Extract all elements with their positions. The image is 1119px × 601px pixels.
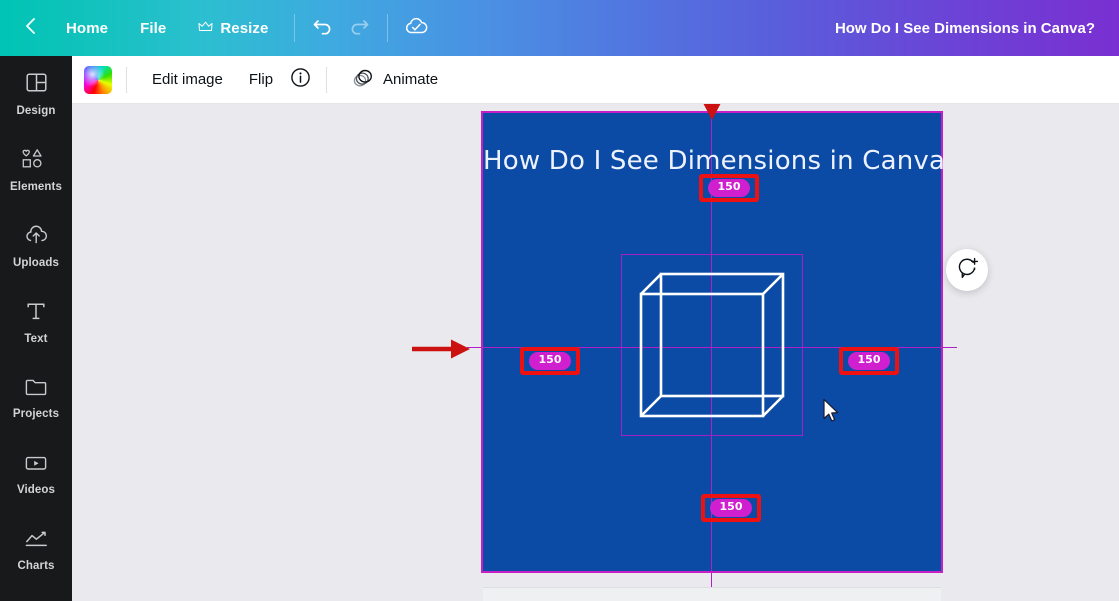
guide-extension-right [941, 347, 957, 348]
add-comment-button[interactable] [946, 249, 988, 291]
sidebar-label-text: Text [24, 333, 47, 345]
edit-image-button[interactable]: Edit image [141, 64, 234, 95]
animate-label: Animate [383, 71, 438, 88]
rainbow-color-swatch[interactable] [84, 66, 112, 94]
video-play-icon [24, 453, 48, 478]
home-label: Home [66, 20, 108, 37]
dimension-value-top: 150 [708, 179, 751, 196]
saved-status-button[interactable] [398, 11, 434, 45]
animate-icon [352, 67, 375, 93]
dimension-value-right: 150 [848, 352, 891, 369]
sidebar-item-text[interactable]: Text [0, 284, 72, 360]
sidebar-label-elements: Elements [10, 181, 62, 193]
back-button[interactable] [16, 14, 44, 42]
dimension-badge-right[interactable]: 150 [839, 347, 899, 375]
sidebar-item-design[interactable]: Design [0, 56, 72, 132]
file-label: File [140, 20, 166, 37]
tool-divider-1 [126, 67, 127, 93]
dimension-badge-bottom[interactable]: 150 [701, 494, 761, 522]
dimension-badge-top[interactable]: 150 [699, 174, 759, 202]
dimension-value-left: 150 [529, 352, 572, 369]
tool-divider-2 [326, 67, 327, 93]
animate-button[interactable]: Animate [341, 60, 449, 100]
home-button[interactable]: Home [50, 14, 124, 43]
element-selection-box[interactable] [621, 254, 803, 436]
guide-extension-bottom [711, 571, 712, 587]
folder-icon [24, 377, 48, 402]
crown-icon [198, 20, 213, 37]
left-sidebar: Design Elements Uploads [0, 56, 72, 601]
dimension-value-bottom: 150 [710, 499, 753, 516]
chevron-left-icon [23, 16, 38, 41]
sidebar-item-videos[interactable]: Videos [0, 436, 72, 512]
resize-button[interactable]: Resize [182, 14, 284, 43]
cloud-check-icon [403, 15, 429, 42]
sidebar-label-uploads: Uploads [13, 257, 59, 269]
undo-button[interactable] [305, 11, 341, 45]
sidebar-label-videos: Videos [17, 484, 55, 496]
undo-icon [312, 16, 334, 41]
canvas-scroll-area[interactable]: How Do I See Dimensions in Canva 150 150 [72, 104, 1119, 601]
upload-cloud-icon [24, 224, 49, 251]
text-t-icon [25, 300, 47, 327]
next-page-preview[interactable] [483, 587, 941, 601]
sidebar-label-charts: Charts [17, 560, 54, 572]
sidebar-label-projects: Projects [13, 408, 59, 420]
app-logo-button[interactable]: A [0, 588, 72, 601]
toolbar-divider-2 [387, 14, 388, 42]
redo-button[interactable] [341, 11, 377, 45]
sidebar-item-uploads[interactable]: Uploads [0, 208, 72, 284]
sidebar-item-charts[interactable]: Charts [0, 512, 72, 588]
line-chart-icon [24, 529, 49, 554]
design-page[interactable]: How Do I See Dimensions in Canva 150 150 [483, 113, 941, 571]
sidebar-item-elements[interactable]: Elements [0, 132, 72, 208]
dimension-badge-left[interactable]: 150 [520, 347, 580, 375]
flip-button[interactable]: Flip [238, 64, 284, 95]
arrow-right-annotation [410, 334, 476, 364]
canva-editor-window: Home File Resize [0, 0, 1119, 601]
top-bar: Home File Resize [0, 0, 1119, 56]
info-button[interactable] [288, 68, 312, 92]
document-title[interactable]: How Do I See Dimensions in Canva? [835, 20, 1103, 37]
context-toolbar: Edit image Flip Animate [72, 56, 1119, 104]
sidebar-item-projects[interactable]: Projects [0, 360, 72, 436]
toolbar-divider-1 [294, 14, 295, 42]
file-menu[interactable]: File [124, 14, 182, 43]
redo-icon [348, 16, 370, 41]
arrow-down-annotation [697, 104, 727, 126]
sidebar-label-design: Design [17, 105, 56, 117]
design-heading[interactable]: How Do I See Dimensions in Canva [483, 146, 941, 176]
info-circle-icon [290, 67, 311, 93]
resize-label: Resize [220, 20, 268, 37]
elements-shapes-icon [22, 147, 50, 175]
design-layout-icon [25, 71, 48, 99]
add-comment-icon [956, 256, 979, 284]
